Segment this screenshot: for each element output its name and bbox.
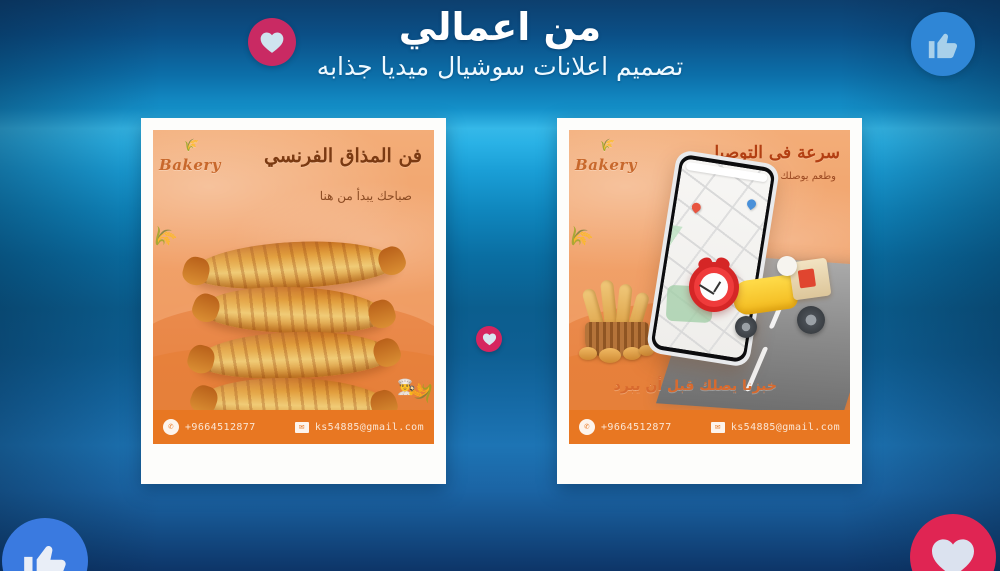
alarm-clock-icon xyxy=(689,262,739,312)
clock-minute-hand xyxy=(699,285,714,296)
contact-phone-text: +9664512877 xyxy=(185,422,256,433)
contact-bar: ✆ +9664512877 ✉ ks54885@gmail.com xyxy=(153,410,434,444)
ad-artwork-delivery: 🌾 🌾 🌾 Bakery سرعة فى التوصيل وطعم يوصلك … xyxy=(569,130,850,444)
contact-email: ✉ ks54885@gmail.com xyxy=(295,422,424,433)
ad-artwork-croissant: 🌾 🌾 🌾 Bakery فن المذاق الفرنسي صباحك يبد… xyxy=(153,130,434,444)
contact-phone-text: +9664512877 xyxy=(601,422,672,433)
page-subtitle: تصميم اعلانات سوشيال ميديا جذابه xyxy=(0,52,1000,82)
reaction-heart-bottom-right xyxy=(910,514,996,571)
contact-email-text: ks54885@gmail.com xyxy=(315,422,424,433)
map-pin-icon xyxy=(690,201,703,214)
mail-icon: ✉ xyxy=(295,422,309,433)
reaction-heart-center xyxy=(476,326,502,352)
contact-email-text: ks54885@gmail.com xyxy=(731,422,840,433)
wheat-icon: 🌾 xyxy=(598,138,613,152)
baker-mascot-icon: 👨‍🍳 xyxy=(397,378,416,396)
phone-icon: ✆ xyxy=(163,419,179,435)
ad-tagline: خبزنا يصلك قبل أن يبرد xyxy=(577,378,777,394)
heart-icon xyxy=(929,535,977,571)
page-title: من اعمالي xyxy=(0,6,1000,50)
contact-phone: ✆ +9664512877 xyxy=(163,419,256,435)
brand-logo-text: Bakery xyxy=(575,156,637,174)
bun-icon xyxy=(579,347,597,360)
mail-icon: ✉ xyxy=(711,422,725,433)
croissant-icon xyxy=(200,284,387,336)
croissant-icon xyxy=(195,329,392,382)
scooter-body xyxy=(731,274,799,317)
bun-icon xyxy=(599,348,621,363)
contact-bar: ✆ +9664512877 ✉ ks54885@gmail.com xyxy=(569,410,850,444)
brand-logo: 🌾 Bakery xyxy=(163,140,217,174)
brand-logo: 🌾 Bakery xyxy=(579,140,633,174)
clock-hour-hand xyxy=(713,281,721,292)
contact-phone: ✆ +9664512877 xyxy=(579,419,672,435)
showcase-canvas: من اعمالي تصميم اعلانات سوشيال ميديا جذا… xyxy=(0,0,1000,571)
reaction-like-bottom-left xyxy=(2,518,88,571)
ad-headline: فن المذاق الفرنسي xyxy=(232,142,422,171)
contact-email: ✉ ks54885@gmail.com xyxy=(711,422,840,433)
croissant-stack-image xyxy=(153,242,434,432)
portfolio-card-delivery-ad[interactable]: 🌾 🌾 🌾 Bakery سرعة فى التوصيل وطعم يوصلك … xyxy=(557,118,862,484)
croissant-icon xyxy=(189,237,397,294)
portfolio-card-croissant-ad[interactable]: 🌾 🌾 🌾 Bakery فن المذاق الفرنسي صباحك يبد… xyxy=(141,118,446,484)
heart-icon xyxy=(482,332,497,346)
map-pin-icon xyxy=(745,198,758,211)
brand-logo-text: Bakery xyxy=(159,156,221,174)
thumbs-up-icon xyxy=(20,536,70,571)
wheat-icon: 🌾 xyxy=(182,138,197,152)
phone-icon: ✆ xyxy=(579,419,595,435)
wheel-icon xyxy=(797,306,825,334)
header: من اعمالي تصميم اعلانات سوشيال ميديا جذا… xyxy=(0,0,1000,82)
wheel-icon xyxy=(735,316,757,338)
map-search-bar xyxy=(686,162,768,183)
ad-subheadline: صباحك يبدأ من هنا xyxy=(242,188,412,205)
